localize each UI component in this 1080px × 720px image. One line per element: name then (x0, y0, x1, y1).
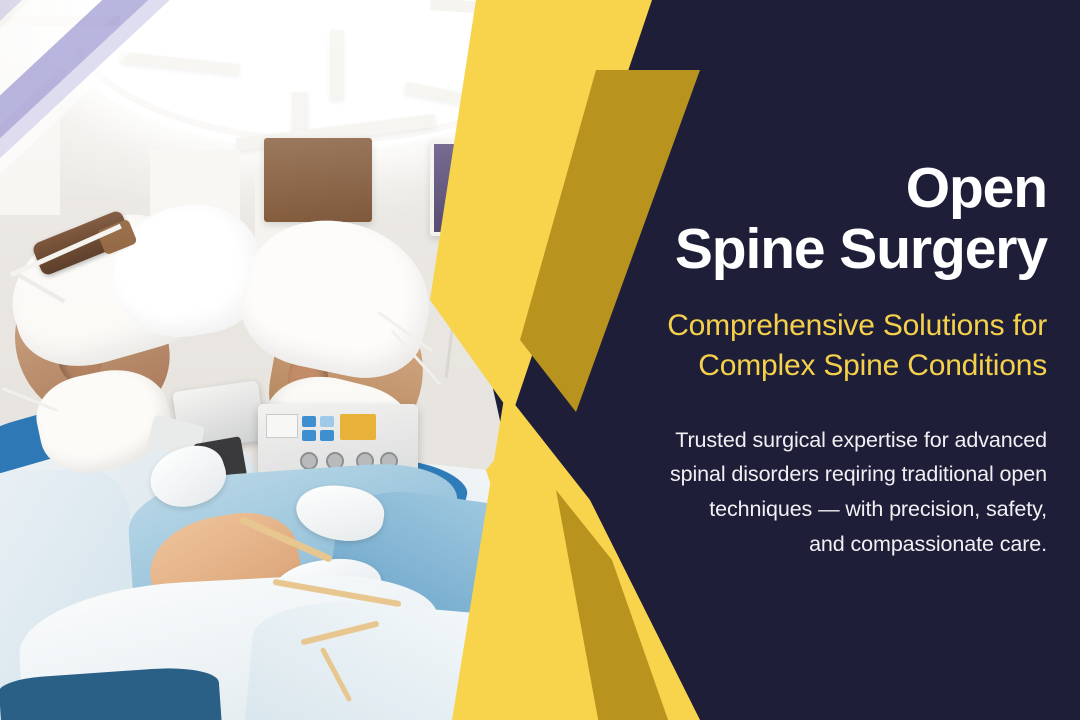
subtitle-line-1: Comprehensive Solutions for (667, 306, 1047, 346)
console-screen (266, 414, 298, 438)
description-line-2: spinal disorders reqiring traditional op… (670, 457, 1047, 492)
console-button (320, 416, 334, 427)
description-line-1: Trusted surgical expertise for advanced (670, 423, 1047, 458)
ceiling-fixture (0, 16, 120, 26)
console-button (320, 430, 334, 441)
subtitle-line-2: Complex Spine Conditions (667, 346, 1047, 386)
title-line-2: Spine Surgery (675, 219, 1047, 280)
page-subtitle: Comprehensive Solutions for Complex Spin… (667, 306, 1047, 386)
equipment-cable (445, 258, 463, 377)
console-knob (300, 452, 318, 470)
page-title: Open Spine Surgery (675, 158, 1047, 280)
console-button (302, 430, 316, 441)
console-display (340, 414, 376, 440)
brown-monitor (264, 138, 372, 222)
wall-panel (0, 95, 60, 215)
page-description: Trusted surgical expertise for advanced … (670, 423, 1047, 562)
description-line-4: and compassionate care. (670, 527, 1047, 562)
hero-banner: Open Spine Surgery Comprehensive Solutio… (0, 0, 1080, 720)
description-line-3: techniques — with precision, safety, (670, 492, 1047, 527)
console-button (302, 416, 316, 427)
ceiling-arm (330, 30, 344, 100)
text-content-block: Open Spine Surgery Comprehensive Solutio… (527, 0, 1047, 720)
title-line-1: Open (675, 158, 1047, 219)
